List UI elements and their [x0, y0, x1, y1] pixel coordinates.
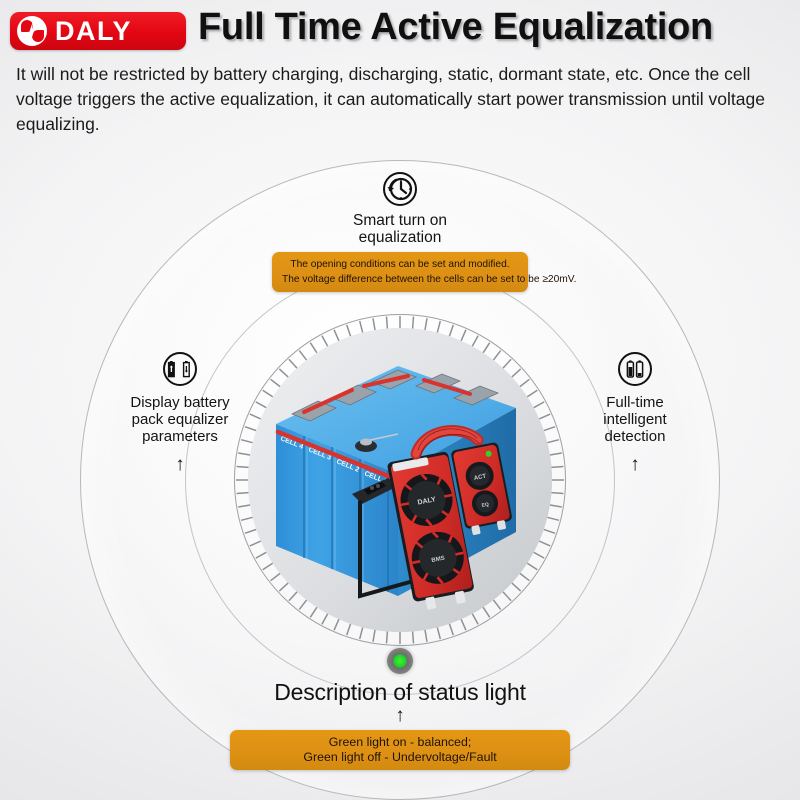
- callout-label: Display battery pack equalizer parameter…: [105, 394, 255, 445]
- clock-restore-icon: [383, 172, 417, 206]
- page-title: Full Time Active Equalization: [198, 6, 713, 49]
- status-light-title: Description of status light: [230, 679, 570, 706]
- battery-transfer-icon: [163, 352, 197, 386]
- pointer-arrow: ↑: [105, 457, 255, 473]
- callout-label: Smart turn on equalization: [272, 212, 528, 246]
- daly-logo: DALY: [10, 12, 186, 50]
- dual-battery-icon: [618, 352, 652, 386]
- battery-pack-photo: CELL 4 CELL 3 CELL 2 CELL 1: [248, 328, 552, 632]
- callout-display-parameters: Display battery pack equalizer parameter…: [105, 352, 255, 473]
- status-note-box: Green light on - balanced; Green light o…: [230, 730, 570, 770]
- top-note-box: The opening conditions can be set and mo…: [272, 252, 528, 292]
- callout-status-light: Description of status light ↑ Green ligh…: [230, 648, 570, 770]
- intro-paragraph: It will not be restricted by battery cha…: [16, 62, 788, 137]
- daly-swirl-logo-icon: [17, 16, 47, 46]
- logo-text: DALY: [55, 16, 132, 47]
- pointer-arrow: ↑: [230, 708, 570, 724]
- callout-smart-turn-on: Smart turn on equalization The opening c…: [272, 172, 528, 292]
- page-header: DALY Full Time Active Equalization: [0, 0, 800, 60]
- green-led-icon: [387, 648, 413, 674]
- callout-fulltime-detection: Full-time intelligent detection ↑: [560, 352, 710, 473]
- pointer-arrow: ↑: [560, 457, 710, 473]
- lightning-bolt-icon: [28, 21, 36, 41]
- callout-label: Full-time intelligent detection: [560, 394, 710, 445]
